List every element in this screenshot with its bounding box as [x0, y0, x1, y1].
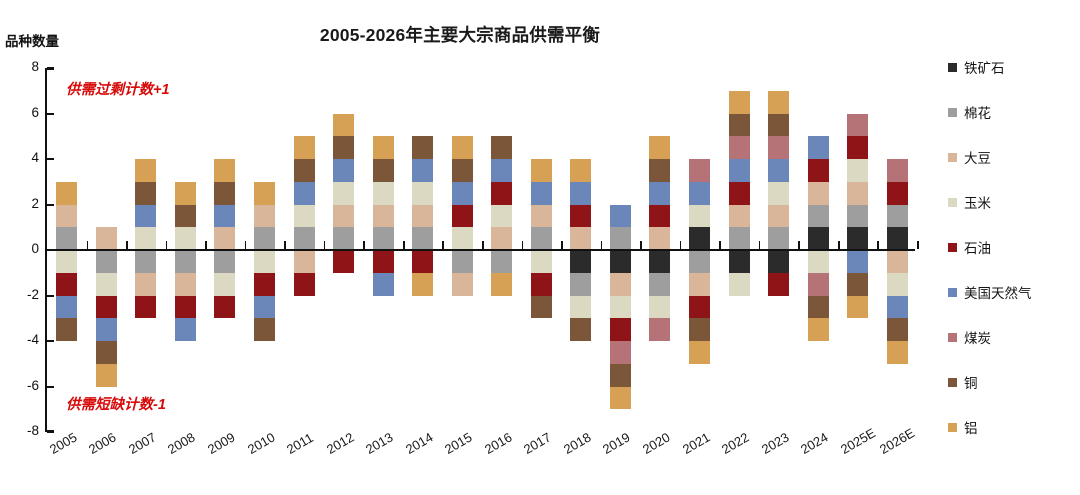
bar-segment[interactable] [412, 136, 433, 159]
bar-segment[interactable] [412, 273, 433, 296]
bar-segment[interactable] [689, 182, 710, 205]
bar-segment[interactable] [333, 136, 354, 159]
bar-segment[interactable] [412, 205, 433, 228]
bar-segment[interactable] [847, 114, 868, 137]
bar-segment[interactable] [768, 273, 789, 296]
bar-segment[interactable] [373, 250, 394, 273]
x-tick [126, 241, 128, 249]
x-tick [680, 241, 682, 249]
bar-segment[interactable] [808, 250, 829, 273]
chart-title: 2005-2026年主要大宗商品供需平衡 [0, 22, 920, 47]
bar-segment[interactable] [610, 227, 631, 250]
x-axis-label: 2023 [759, 430, 792, 457]
x-axis-label: 2020 [640, 430, 673, 457]
bar-segment[interactable] [491, 273, 512, 296]
bar-segment[interactable] [729, 114, 750, 137]
x-axis-label: 2024 [798, 430, 831, 457]
bar-segment[interactable] [175, 182, 196, 205]
bar-segment[interactable] [491, 136, 512, 159]
y-tick-label: 8 [5, 59, 39, 74]
bar-segment[interactable] [135, 296, 156, 319]
y-axis-unit-label: 品种数量 [5, 30, 59, 50]
bar-segment[interactable] [373, 182, 394, 205]
x-tick [245, 241, 247, 249]
bar-segment[interactable] [294, 250, 315, 273]
bar-segment[interactable] [491, 250, 512, 273]
x-axis-label: 2017 [521, 430, 554, 457]
x-tick [561, 241, 563, 249]
chart-container: 2005-2026年主要大宗商品供需平衡 品种数量 86420-2-4-6-8 … [0, 0, 1080, 495]
bar-segment[interactable] [531, 250, 552, 273]
legend-swatch-icon [948, 153, 957, 162]
x-tick [640, 241, 642, 249]
bar-segment[interactable] [412, 159, 433, 182]
bar-segment[interactable] [847, 205, 868, 228]
bar-segment[interactable] [768, 159, 789, 182]
legend-label: 铝 [964, 417, 978, 437]
bar-segment[interactable] [847, 159, 868, 182]
x-axis-labels: 2005200620072008200920102011201220132014… [45, 436, 915, 494]
y-tick-label: 4 [5, 150, 39, 165]
legend-item[interactable]: 玉米 [948, 193, 991, 211]
bar-segment[interactable] [56, 250, 77, 273]
bar-segment[interactable] [175, 227, 196, 250]
x-tick [442, 241, 444, 249]
x-axis-label: 2012 [324, 430, 357, 457]
bar-segment[interactable] [689, 250, 710, 273]
legend-item[interactable]: 棉花 [948, 103, 991, 121]
bar-segment[interactable] [491, 205, 512, 228]
bar-segment[interactable] [96, 318, 117, 341]
legend-label: 大豆 [964, 147, 991, 167]
bar-segment[interactable] [373, 205, 394, 228]
bar-segment[interactable] [729, 250, 750, 273]
bar-segment[interactable] [808, 159, 829, 182]
bar-segment[interactable] [333, 250, 354, 273]
bar-segment[interactable] [768, 250, 789, 273]
legend-label: 石油 [964, 237, 991, 257]
legend-item[interactable]: 煤炭 [948, 328, 991, 346]
bar-segment[interactable] [96, 273, 117, 296]
x-axis-label: 2014 [403, 430, 436, 457]
bar-segment[interactable] [729, 227, 750, 250]
bar-segment[interactable] [689, 273, 710, 296]
bar-segment[interactable] [729, 136, 750, 159]
x-tick [719, 241, 721, 249]
bar-segment[interactable] [333, 205, 354, 228]
bar-segment[interactable] [649, 205, 670, 228]
bar-segment[interactable] [135, 227, 156, 250]
bar-segment[interactable] [729, 182, 750, 205]
bar-segment[interactable] [214, 273, 235, 296]
x-tick [877, 241, 879, 249]
bar-segment[interactable] [847, 250, 868, 273]
y-tick-label: -2 [5, 287, 39, 302]
bar-segment[interactable] [214, 159, 235, 182]
legend-item[interactable]: 铜 [948, 373, 978, 391]
bar-segment[interactable] [689, 318, 710, 341]
bar-segment[interactable] [649, 227, 670, 250]
bar-segment[interactable] [768, 205, 789, 228]
bar-segment[interactable] [689, 205, 710, 228]
bar-segment[interactable] [570, 273, 591, 296]
bar-segment[interactable] [649, 296, 670, 319]
bar-segment[interactable] [491, 182, 512, 205]
bar-segment[interactable] [808, 205, 829, 228]
bar-segment[interactable] [452, 182, 473, 205]
x-axis-label: 2011 [284, 430, 316, 457]
bar-segment[interactable] [254, 250, 275, 273]
bar-segment[interactable] [570, 205, 591, 228]
bar-segment[interactable] [689, 341, 710, 364]
bar-segment[interactable] [808, 182, 829, 205]
bar-segment[interactable] [56, 273, 77, 296]
x-axis-label: 2021 [680, 430, 713, 457]
legend-item[interactable]: 美国天然气 [948, 283, 1032, 301]
bar-segment[interactable] [412, 250, 433, 273]
bar-segment[interactable] [847, 296, 868, 319]
y-tick-label: 2 [5, 196, 39, 211]
zero-baseline [45, 249, 915, 251]
x-axis-label: 2009 [205, 430, 238, 457]
bar-segment[interactable] [610, 387, 631, 410]
legend-swatch-icon [948, 288, 957, 297]
bar-segment[interactable] [531, 227, 552, 250]
x-axis-label: 2015 [442, 430, 475, 457]
bar-segment[interactable] [373, 227, 394, 250]
bar-segment[interactable] [294, 136, 315, 159]
plot-area: 86420-2-4-6-8 [45, 68, 915, 432]
y-tick-label: -8 [5, 423, 39, 438]
x-axis-label: 2010 [245, 430, 278, 457]
bar-segment[interactable] [96, 296, 117, 319]
bar-segment[interactable] [531, 273, 552, 296]
x-tick [482, 241, 484, 249]
bar-segment[interactable] [729, 159, 750, 182]
legend-label: 铜 [964, 372, 978, 392]
bar-segment[interactable] [847, 136, 868, 159]
legend-swatch-icon [948, 108, 957, 117]
bar-segment[interactable] [135, 182, 156, 205]
x-tick [403, 241, 405, 249]
legend-item[interactable]: 石油 [948, 238, 991, 256]
bar-segment[interactable] [768, 227, 789, 250]
x-axis-label: 2008 [165, 430, 198, 457]
bar-segment[interactable] [610, 273, 631, 296]
bar-segment[interactable] [570, 250, 591, 273]
bar-segment[interactable] [452, 273, 473, 296]
bar-segment[interactable] [649, 273, 670, 296]
bar-segment[interactable] [491, 159, 512, 182]
bar-segment[interactable] [610, 296, 631, 319]
bar-segment[interactable] [175, 273, 196, 296]
x-axis-label: 2019 [600, 430, 633, 457]
bar-segment[interactable] [254, 227, 275, 250]
y-tick-label: 0 [5, 241, 39, 256]
bar-segment[interactable] [294, 205, 315, 228]
bar-segment[interactable] [847, 227, 868, 250]
annotation-surplus: 供需过剩计数+1 [66, 78, 170, 99]
bar-segment[interactable] [570, 227, 591, 250]
bar-segment[interactable] [214, 296, 235, 319]
legend-label: 煤炭 [964, 327, 991, 347]
bar-segment[interactable] [175, 250, 196, 273]
x-axis-label: 2018 [561, 430, 594, 457]
bar-segment[interactable] [214, 250, 235, 273]
bar-segment[interactable] [333, 182, 354, 205]
bar-segment[interactable] [649, 182, 670, 205]
bar-segment[interactable] [452, 159, 473, 182]
bar-segment[interactable] [768, 91, 789, 114]
bar-segment[interactable] [96, 364, 117, 387]
bar-segment[interactable] [254, 182, 275, 205]
x-tick [522, 241, 524, 249]
bar-segment[interactable] [531, 296, 552, 319]
legend-label: 玉米 [964, 192, 991, 212]
bar-segment[interactable] [729, 273, 750, 296]
bar-segment[interactable] [96, 341, 117, 364]
bar-segment[interactable] [768, 182, 789, 205]
bar-segment[interactable] [135, 159, 156, 182]
legend-swatch-icon [948, 378, 957, 387]
annotation-deficit: 供需短缺计数-1 [66, 393, 166, 414]
x-axis-label: 2006 [86, 430, 119, 457]
bar-segment[interactable] [254, 273, 275, 296]
chart-legend: 铁矿石棉花大豆玉米石油美国天然气煤炭铜铝 [948, 58, 1076, 458]
bar-segment[interactable] [808, 136, 829, 159]
bar-segment[interactable] [649, 250, 670, 273]
bar-segment[interactable] [214, 205, 235, 228]
bar-segment[interactable] [887, 341, 908, 364]
bar-segment[interactable] [689, 159, 710, 182]
legend-item[interactable]: 大豆 [948, 148, 991, 166]
bar-segment[interactable] [610, 205, 631, 228]
bar-segment[interactable] [135, 250, 156, 273]
bar-segment[interactable] [531, 182, 552, 205]
bar-segment[interactable] [887, 273, 908, 296]
bar-segment[interactable] [491, 227, 512, 250]
bar-segment[interactable] [649, 136, 670, 159]
bar-segment[interactable] [56, 318, 77, 341]
legend-label: 棉花 [964, 102, 991, 122]
x-axis-label: 2007 [126, 430, 159, 457]
bar-segment[interactable] [610, 250, 631, 273]
legend-label: 美国天然气 [964, 282, 1032, 302]
x-tick [324, 241, 326, 249]
bar-segment[interactable] [768, 136, 789, 159]
bar-segment[interactable] [373, 273, 394, 296]
bar-segment[interactable] [887, 227, 908, 250]
bar-segment[interactable] [96, 250, 117, 273]
x-tick [917, 241, 919, 249]
bar-segment[interactable] [294, 182, 315, 205]
legend-swatch-icon [948, 333, 957, 342]
x-tick [601, 241, 603, 249]
bar-segment[interactable] [96, 227, 117, 250]
bar-segment[interactable] [729, 205, 750, 228]
legend-item[interactable]: 铝 [948, 418, 978, 436]
bar-segment[interactable] [412, 227, 433, 250]
bar-segment[interactable] [887, 250, 908, 273]
x-tick [798, 241, 800, 249]
bar-segment[interactable] [768, 114, 789, 137]
bar-segment[interactable] [294, 273, 315, 296]
x-axis-label: 2013 [363, 430, 396, 457]
bar-segment[interactable] [887, 159, 908, 182]
bar-segment[interactable] [56, 182, 77, 205]
legend-swatch-icon [948, 243, 957, 252]
bar-segment[interactable] [452, 136, 473, 159]
bar-segment[interactable] [373, 136, 394, 159]
y-tick-label: -6 [5, 378, 39, 393]
x-tick [284, 241, 286, 249]
bar-segment[interactable] [808, 296, 829, 319]
y-axis-tick-labels: 86420-2-4-6-8 [5, 68, 39, 432]
bar-segment[interactable] [175, 205, 196, 228]
bar-segment[interactable] [570, 182, 591, 205]
bar-segment[interactable] [214, 227, 235, 250]
y-tick-label: 6 [5, 105, 39, 120]
bar-segment[interactable] [135, 205, 156, 228]
x-tick [838, 241, 840, 249]
bar-segment[interactable] [214, 182, 235, 205]
bar-segment[interactable] [570, 296, 591, 319]
x-tick [87, 241, 89, 249]
bar-segment[interactable] [333, 114, 354, 137]
bar-segment[interactable] [56, 296, 77, 319]
bar-segment[interactable] [570, 318, 591, 341]
bar-segment[interactable] [808, 318, 829, 341]
bar-segment[interactable] [412, 182, 433, 205]
bar-segment[interactable] [135, 273, 156, 296]
bar-segment[interactable] [808, 227, 829, 250]
legend-swatch-icon [948, 198, 957, 207]
bar-segment[interactable] [887, 296, 908, 319]
bar-segment[interactable] [56, 205, 77, 228]
x-tick [759, 241, 761, 249]
x-axis-label: 2022 [719, 430, 752, 457]
bar-segment[interactable] [254, 296, 275, 319]
bar-segment[interactable] [531, 205, 552, 228]
bar-segment[interactable] [689, 227, 710, 250]
x-axis-label: 2016 [482, 430, 515, 457]
bar-segment[interactable] [808, 273, 829, 296]
legend-swatch-icon [948, 423, 957, 432]
bar-segment[interactable] [373, 159, 394, 182]
bar-segment[interactable] [847, 182, 868, 205]
bar-segment[interactable] [610, 318, 631, 341]
bar-segment[interactable] [689, 296, 710, 319]
bar-segment[interactable] [887, 205, 908, 228]
bar-segment[interactable] [610, 341, 631, 364]
x-tick [166, 241, 168, 249]
bar-segment[interactable] [570, 159, 591, 182]
x-tick [363, 241, 365, 249]
bar-segment[interactable] [254, 205, 275, 228]
bar-segment[interactable] [452, 250, 473, 273]
bar-segment[interactable] [175, 296, 196, 319]
legend-swatch-icon [948, 63, 957, 72]
x-axis-label: 2005 [47, 430, 80, 457]
bar-segment[interactable] [56, 227, 77, 250]
legend-label: 铁矿石 [964, 57, 1005, 77]
bar-segment[interactable] [294, 159, 315, 182]
y-tick-label: -4 [5, 332, 39, 347]
bar-segment[interactable] [887, 318, 908, 341]
legend-item[interactable]: 铁矿石 [948, 58, 1005, 76]
bar-segment[interactable] [175, 318, 196, 341]
bar-segment[interactable] [887, 182, 908, 205]
bar-segment[interactable] [610, 364, 631, 387]
bar-segment[interactable] [333, 159, 354, 182]
bar-segment[interactable] [649, 159, 670, 182]
bar-segment[interactable] [254, 318, 275, 341]
bar-segment[interactable] [452, 205, 473, 228]
bar-segment[interactable] [649, 318, 670, 341]
bar-segment[interactable] [333, 227, 354, 250]
bar-segment[interactable] [294, 227, 315, 250]
bar-segment[interactable] [847, 273, 868, 296]
bar-segment[interactable] [729, 91, 750, 114]
bar-segment[interactable] [531, 159, 552, 182]
bar-segment[interactable] [452, 227, 473, 250]
x-tick [205, 241, 207, 249]
